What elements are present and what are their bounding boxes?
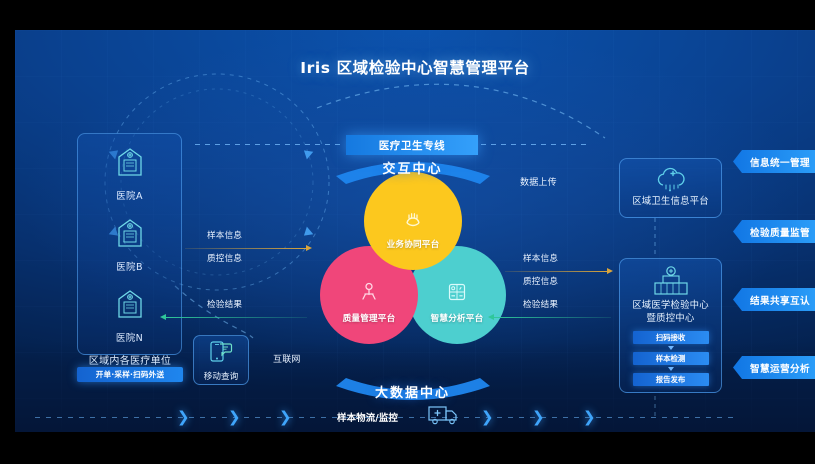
band-top-label: 交互中心: [382, 158, 442, 177]
lab-workflow-steps: 扫码接收 样本检测 报告发布: [633, 331, 709, 386]
right-connector-label-sample: 样本信息: [523, 252, 558, 264]
right-flow-out-line: [505, 271, 609, 272]
mobile-phone-icon: [208, 338, 234, 368]
venn-bubble-business[interactable]: 业务协同平台: [364, 172, 462, 270]
right-connector-label-result: 检验结果: [523, 298, 558, 310]
tag-unified-info-management[interactable]: 信息统一管理: [733, 150, 815, 173]
right-flow-in-arrow: [488, 314, 494, 320]
lab-center-label-line1: 区域医学检验中心: [632, 300, 709, 313]
chevron-right-icon: ❯: [228, 410, 241, 425]
handshake-icon: [403, 212, 423, 234]
band-bottom-label: 大数据中心: [375, 382, 450, 401]
hospital-icon: [78, 217, 181, 253]
mobile-query-label: 移动查询: [204, 370, 238, 382]
order-sample-scan-chip: 开单·采样·扫码外送: [77, 367, 183, 382]
hospital-label: 医院A: [116, 191, 143, 202]
tag-smart-operation-analysis[interactable]: 智慧运营分析: [733, 356, 815, 379]
hospital-label: 医院N: [116, 333, 143, 344]
left-connector-label-result: 检验结果: [207, 298, 242, 310]
page-title: Iris 区域检验中心智慧管理平台: [15, 56, 815, 78]
left-flow-in-arrow: [160, 314, 166, 320]
workflow-step-test[interactable]: 样本检测: [633, 352, 709, 365]
step-arrow-icon: [633, 365, 709, 373]
chevron-right-icon: ❯: [583, 410, 596, 425]
left-flow-in-line: [165, 317, 307, 318]
lab-center-label-line2: 暨质控中心: [647, 313, 695, 326]
regional-lab-and-qc-center[interactable]: 区域医学检验中心 暨质控中心 扫码接收 样本检测 报告发布: [619, 258, 722, 393]
step-arrow-icon: [633, 344, 709, 352]
chevron-right-icon: ❯: [177, 410, 190, 425]
venn-bubble-label: 质量管理平台: [343, 312, 396, 324]
interaction-center-band: 交互中心: [338, 154, 488, 180]
workflow-step-report[interactable]: 报告发布: [633, 373, 709, 386]
left-connector-label-qc: 质控信息: [207, 252, 242, 264]
right-connector-label-qc: 质控信息: [523, 275, 558, 287]
analytics-grid-icon: [447, 282, 467, 306]
microscope-icon: [360, 282, 378, 306]
chevron-right-icon: ❯: [532, 410, 545, 425]
hospital-icon: [78, 146, 181, 182]
venn-diagram: 交互中心 业务协同平台: [310, 158, 515, 398]
regional-hospitals-panel: 医院A 医院B: [77, 133, 182, 355]
health-platform-label: 区域卫生信息平台: [632, 196, 709, 209]
right-flow-in-line: [493, 317, 611, 318]
presentation-slide: Iris 区域检验中心智慧管理平台 医疗卫生专线 医院A: [15, 30, 815, 432]
left-flow-out-line: [185, 248, 307, 249]
workflow-step-receive[interactable]: 扫码接收: [633, 331, 709, 344]
left-flow-out-arrow: [306, 245, 312, 251]
chevron-right-icon: ❯: [279, 410, 292, 425]
screenshot-stage: Iris 区域检验中心智慧管理平台 医疗卫生专线 医院A: [0, 0, 815, 464]
ambulance-truck-icon: [427, 402, 463, 430]
venn-bubble-label: 业务协同平台: [387, 238, 440, 250]
hospital-label: 医院B: [116, 262, 143, 273]
medline-dash-left: [195, 144, 343, 145]
tag-quality-supervision[interactable]: 检验质量监管: [733, 220, 815, 243]
regional-units-caption: 区域内各医疗单位: [67, 352, 193, 367]
venn-bubble-label: 智慧分析平台: [431, 312, 484, 324]
right-flow-out-arrow: [607, 268, 613, 274]
big-data-center-band: 大数据中心: [338, 378, 488, 404]
data-upload-label: 数据上传: [520, 175, 557, 188]
cloud-health-icon: [654, 166, 688, 196]
sample-logistics-label: 样本物流/监控: [337, 410, 398, 424]
chevron-right-icon: ❯: [481, 410, 494, 425]
medical-line-banner: 医疗卫生专线: [346, 135, 478, 155]
tag-result-sharing[interactable]: 结果共享互认: [733, 288, 815, 311]
hospital-building-icon: [651, 266, 691, 300]
left-connector-label-sample: 样本信息: [207, 229, 242, 241]
hospital-item-a[interactable]: 医院A: [78, 146, 181, 203]
mobile-query-node[interactable]: 移动查询: [193, 335, 249, 385]
hospital-item-b[interactable]: 医院B: [78, 217, 181, 274]
internet-label: 互联网: [273, 352, 301, 365]
medline-dash-right: [481, 144, 591, 145]
regional-health-info-platform[interactable]: 区域卫生信息平台: [619, 158, 722, 218]
